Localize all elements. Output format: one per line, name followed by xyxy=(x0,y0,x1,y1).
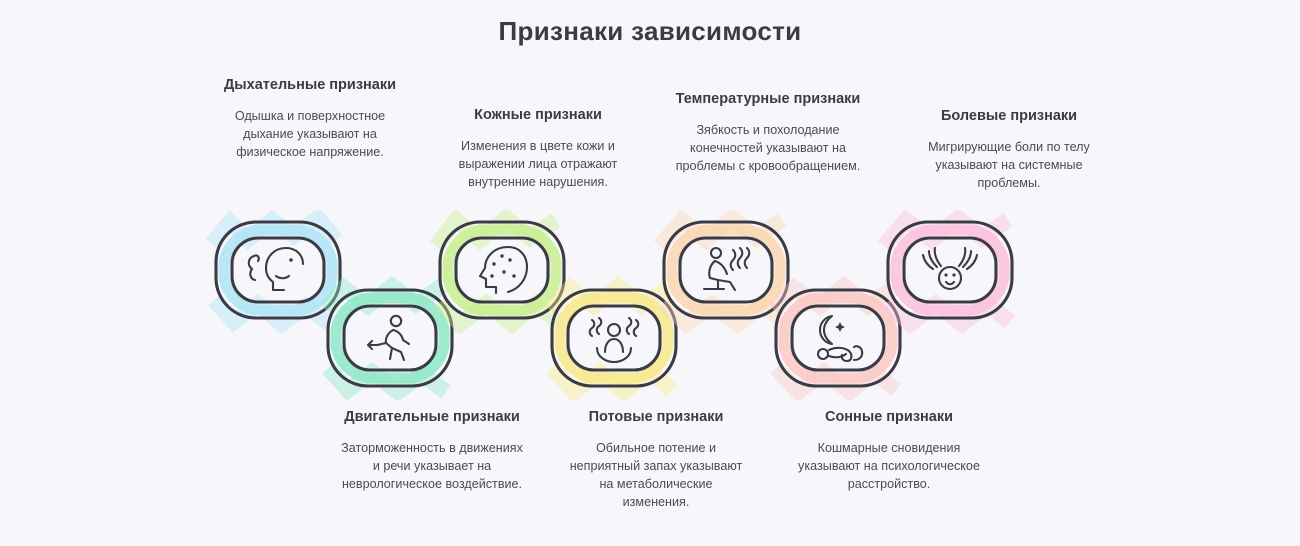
label-description: Одышка и поверхностное дыхание указывают… xyxy=(218,107,402,162)
label-title: Болевые признаки xyxy=(916,107,1102,127)
label-title: Сонные признаки xyxy=(790,408,988,428)
label-block-breathing: Дыхательные признаки Одышка и поверхност… xyxy=(218,76,402,161)
moon-sleeper-icon xyxy=(818,316,862,361)
chain-link-sweat[interactable] xyxy=(550,286,676,392)
label-description: Зябкость и похолодание конечностей указы… xyxy=(663,121,873,176)
running-person-icon xyxy=(368,316,409,360)
label-title: Потовые признаки xyxy=(568,408,744,428)
label-title: Двигательные признаки xyxy=(336,408,528,428)
chain-link-sleep[interactable] xyxy=(774,286,900,392)
label-block-pain: Болевые признаки Мигрирующие боли по тел… xyxy=(916,107,1102,192)
label-block-sleep: Сонные признаки Кошмарные сновидения ука… xyxy=(790,408,988,493)
shivering-person-icon xyxy=(704,248,749,290)
label-description: Обильное потение и неприятный запах указ… xyxy=(568,439,744,512)
spotted-face-icon xyxy=(480,247,527,293)
label-description: Кошмарные сновидения указывают на психол… xyxy=(790,439,988,494)
label-description: Изменения в цвете кожи и выражении лица … xyxy=(443,137,633,192)
label-title: Кожные признаки xyxy=(443,106,633,126)
chain-link-skin[interactable] xyxy=(436,218,564,324)
chain-link-breathing[interactable] xyxy=(212,218,340,324)
chain-link-pain[interactable] xyxy=(884,218,1012,324)
chain-diagram xyxy=(200,210,1120,400)
label-block-temperature: Температурные признаки Зябкость и похоло… xyxy=(663,90,873,175)
chain-link-motor[interactable] xyxy=(326,286,452,392)
page-title: Признаки зависимости xyxy=(0,16,1300,47)
label-description: Мигрирующие боли по телу указывают на си… xyxy=(916,138,1102,193)
label-title: Температурные признаки xyxy=(663,90,873,110)
chain-link-temperature[interactable] xyxy=(660,218,788,324)
label-description: Заторможенность в движениях и речи указы… xyxy=(336,439,528,494)
label-block-skin: Кожные признаки Изменения в цвете кожи и… xyxy=(443,106,633,191)
head-pain-icon xyxy=(923,248,977,289)
label-title: Дыхательные признаки xyxy=(218,76,402,96)
label-block-motor: Двигательные признаки Заторможенность в … xyxy=(336,408,528,493)
sweating-person-icon xyxy=(590,318,639,362)
breathing-face-icon xyxy=(249,248,303,290)
label-block-sweat: Потовые признаки Обильное потение и непр… xyxy=(568,408,744,512)
